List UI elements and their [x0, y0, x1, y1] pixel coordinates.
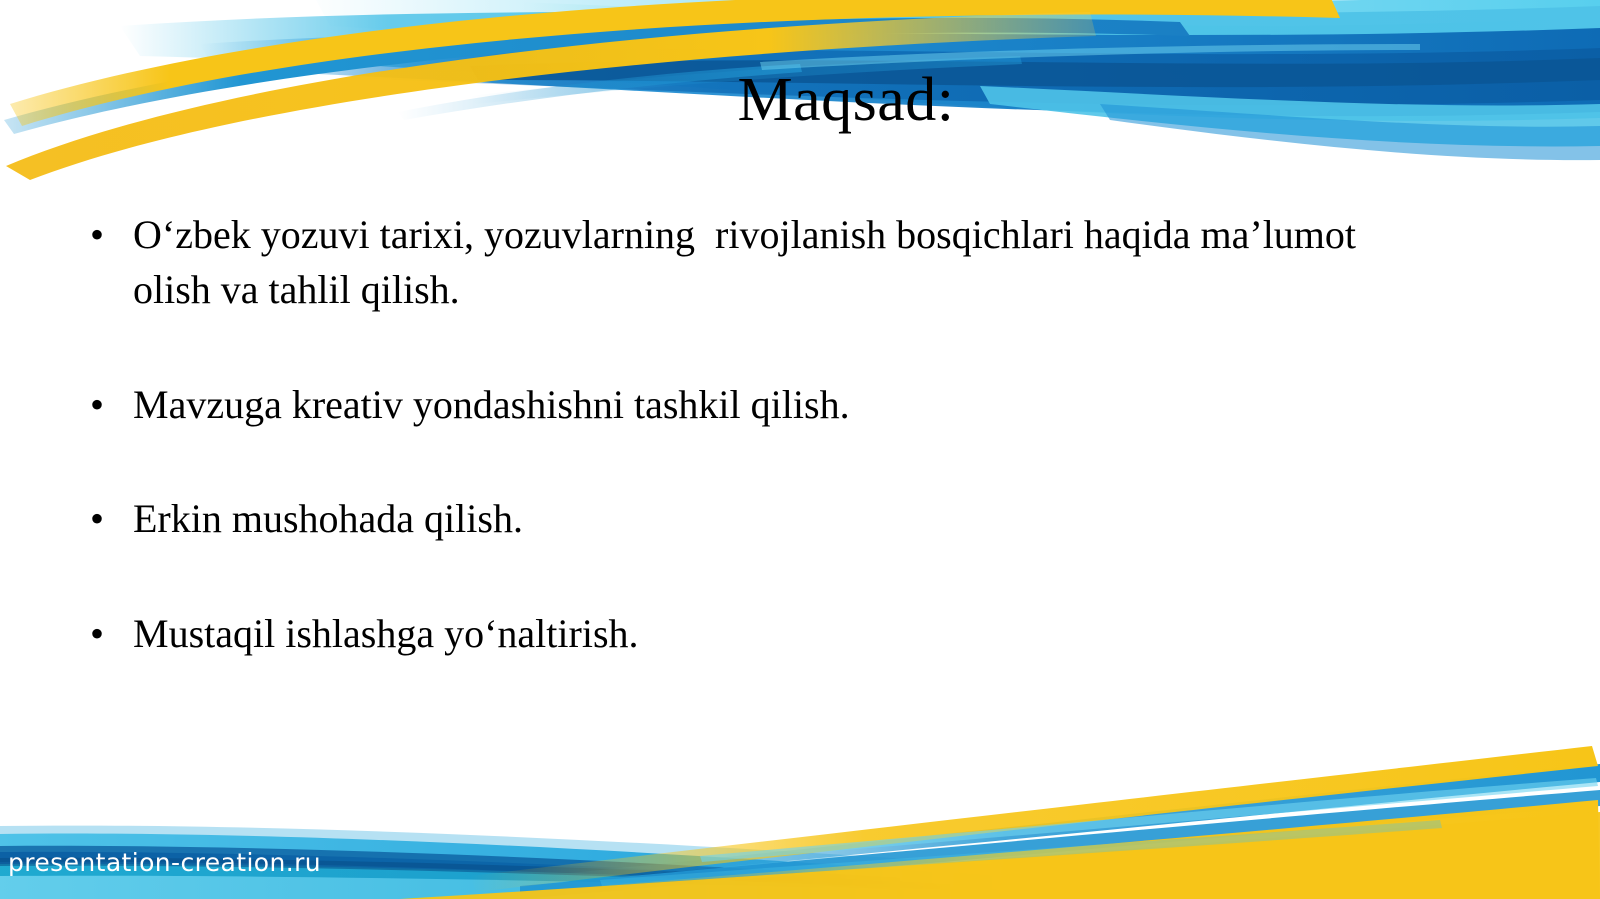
list-item: • O‘zbek yozuvi tarixi, yozuvlarning riv…	[78, 208, 1408, 318]
slide-canvas: Maqsad: • O‘zbek yozuvi tarixi, yozuvlar…	[0, 0, 1600, 899]
slide-title: Maqsad:	[0, 68, 1600, 133]
list-item: • Mustaqil ishlashga yo‘naltirish.	[78, 607, 1408, 662]
bullet-point-icon: •	[78, 378, 133, 432]
bullet-text: Erkin mushohada qilish.	[133, 492, 1408, 547]
bullet-point-icon: •	[78, 607, 133, 661]
watermark-label: presentation-creation.ru	[8, 848, 321, 877]
bullet-point-icon: •	[78, 208, 133, 262]
bullet-text: Mavzuga kreativ yondashishni tashkil qil…	[133, 378, 1408, 433]
bullet-text: O‘zbek yozuvi tarixi, yozuvlarning rivoj…	[133, 208, 1408, 318]
list-item: • Mavzuga kreativ yondashishni tashkil q…	[78, 378, 1408, 433]
bullet-text: Mustaqil ishlashga yo‘naltirish.	[133, 607, 1408, 662]
bullet-point-icon: •	[78, 492, 133, 546]
bullet-list: • O‘zbek yozuvi tarixi, yozuvlarning riv…	[78, 208, 1408, 662]
list-item: • Erkin mushohada qilish.	[78, 492, 1408, 547]
